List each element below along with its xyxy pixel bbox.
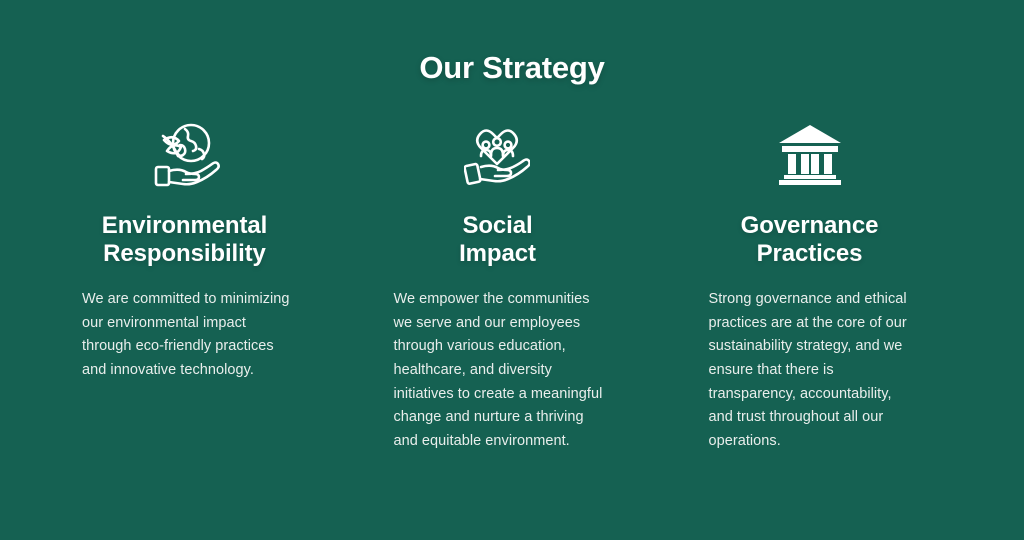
strategy-columns: Environmental Responsibility We are comm… (0, 118, 1024, 454)
strategy-card-governance: Governance Practices Strong governance a… (676, 118, 921, 454)
card-title: Social Impact (459, 212, 536, 268)
card-title: Environmental Responsibility (102, 212, 267, 268)
card-body: We empower the communities we serve and … (366, 288, 618, 453)
card-body: Strong governance and ethical practices … (673, 288, 925, 453)
hand-holding-globe-leaf-icon (147, 118, 221, 190)
strategy-card-environmental: Environmental Responsibility We are comm… (62, 118, 307, 454)
hand-holding-heart-people-icon (464, 118, 530, 190)
card-body: We are committed to minimizing our envir… (62, 288, 307, 383)
strategy-section: Our Strategy (0, 0, 1024, 540)
strategy-card-social: Social Impact We empower the communities… (369, 118, 614, 454)
bank-institution-columns-icon (777, 118, 843, 190)
page-title: Our Strategy (0, 50, 1024, 86)
card-title: Governance Practices (741, 212, 879, 268)
